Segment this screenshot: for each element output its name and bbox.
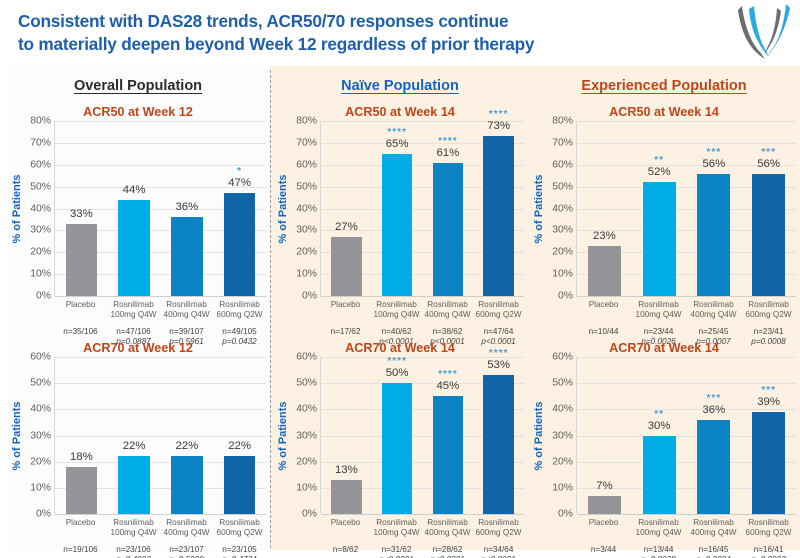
chart-overall-acr50: ACR50 at Week 12% of Patients0%10%20%30%… [10, 104, 266, 347]
bar-experienced-acr50-0[interactable]: 23% [588, 246, 621, 296]
y-tick-label: 20% [296, 247, 317, 258]
y-axis-ticks-experienced-acr50: 0%10%20%30%40%50%60%70%80% [546, 121, 576, 296]
x-tick-label: Rosnilimab400mg Q4W [422, 514, 473, 538]
company-v-logo-icon [732, 2, 794, 64]
slide-root: Consistent with DAS28 trends, ACR50/70 r… [0, 0, 800, 558]
x-tick-label: Placebo [54, 296, 107, 320]
bar-slot: 56%*** [687, 121, 742, 296]
bar-value-label: 61% [433, 147, 463, 159]
y-tick-label: 30% [552, 430, 573, 441]
bar-experienced-acr70-1[interactable]: 30%** [643, 436, 676, 515]
bar-experienced-acr70-0[interactable]: 7% [588, 496, 621, 514]
y-tick-label: 20% [30, 247, 51, 258]
y-tick-label: 60% [30, 352, 51, 363]
x-axis-labels-overall-acr50: PlaceboRosnilimab100mg Q4WRosnilimab400m… [54, 296, 266, 320]
x-tick-label: Placebo [320, 514, 371, 538]
y-tick-label: 50% [552, 181, 573, 192]
y-tick-label: 10% [296, 482, 317, 493]
y-tick-label: 20% [30, 456, 51, 467]
x-tick-label: Rosnilimab100mg Q4W [107, 296, 160, 320]
y-tick-label: 20% [552, 247, 573, 258]
bar-slot: 36%*** [687, 357, 742, 514]
y-tick-label: 10% [552, 482, 573, 493]
y-tick-label: 10% [30, 269, 51, 280]
bar-naive-acr50-1[interactable]: 65%**** [382, 154, 412, 296]
gridline [321, 514, 524, 515]
gridline [55, 296, 266, 297]
x-tick-label: Rosnilimab600mg Q2W [741, 514, 796, 538]
y-axis-ticks-naive-acr50: 0%10%20%30%40%50%60%70%80% [290, 121, 320, 296]
page-title-line2: to materially deepen beyond Week 12 rega… [18, 33, 718, 56]
bar-slot: 44% [108, 121, 161, 296]
x-tick-label: Rosnilimab400mg Q4W [686, 296, 741, 320]
x-tick-label: Placebo [320, 296, 371, 320]
y-axis-ticks-overall-acr70: 0%10%20%30%40%50%60% [24, 357, 54, 514]
y-axis-label-experienced-acr50: % of Patients [532, 121, 546, 296]
bar-value-label: 33% [66, 208, 98, 220]
y-tick-label: 0% [558, 509, 573, 520]
x-tick-label: Placebo [54, 514, 107, 538]
y-tick-label: 50% [30, 378, 51, 389]
y-tick-label: 70% [30, 137, 51, 148]
bar-value-label: 30% [643, 420, 676, 432]
significance-marker: **** [483, 348, 513, 359]
y-axis-label-overall-acr50: % of Patients [10, 121, 24, 296]
x-axis-labels-naive-acr50: PlaceboRosnilimab100mg Q4WRosnilimab400m… [320, 296, 524, 320]
bar-slot: 33% [55, 121, 108, 296]
plot-area-naive-acr70: % of Patients0%10%20%30%40%50%60%13%50%*… [276, 357, 524, 514]
y-tick-label: 70% [552, 137, 573, 148]
y-tick-label: 60% [552, 352, 573, 363]
bar-group-naive-acr70: 13%50%****45%****53%**** [321, 357, 524, 514]
x-tick-label: Rosnilimab100mg Q4W [371, 296, 422, 320]
bar-overall-acr70-3[interactable]: 22% [224, 456, 256, 514]
bar-naive-acr70-0[interactable]: 13% [331, 480, 361, 514]
y-tick-label: 40% [552, 404, 573, 415]
plot-area-overall-acr70: % of Patients0%10%20%30%40%50%60%18%22%2… [10, 357, 266, 514]
n-stat-cell: n=13/44p=0.0038 [631, 538, 686, 558]
bar-slot: 53%**** [473, 357, 524, 514]
significance-marker: * [224, 166, 256, 177]
bar-value-label: 45% [433, 380, 463, 392]
y-tick-label: 60% [296, 352, 317, 363]
bar-group-experienced-acr50: 23%52%**56%***56%*** [577, 121, 796, 296]
y-axis-ticks-experienced-acr70: 0%10%20%30%40%50%60% [546, 357, 576, 514]
significance-marker: **** [483, 109, 513, 120]
bar-value-label: 7% [588, 480, 621, 492]
y-tick-label: 0% [36, 291, 51, 302]
section-heading-overall: Overall Population [10, 78, 266, 94]
y-axis-label-naive-acr70: % of Patients [276, 357, 290, 514]
x-axis-labels-naive-acr70: PlaceboRosnilimab100mg Q4WRosnilimab400m… [320, 514, 524, 538]
y-tick-label: 40% [30, 404, 51, 415]
bar-slot: 13% [321, 357, 372, 514]
bar-slot: 45%**** [423, 357, 474, 514]
y-tick-label: 0% [558, 291, 573, 302]
significance-marker: **** [433, 136, 463, 147]
bar-value-label: 47% [224, 177, 256, 189]
y-tick-label: 0% [36, 509, 51, 520]
bar-value-label: 36% [171, 201, 203, 213]
bar-group-naive-acr50: 27%65%****61%****73%**** [321, 121, 524, 296]
bar-slot: 18% [55, 357, 108, 514]
x-tick-label: Rosnilimab100mg Q4W [631, 514, 686, 538]
bar-value-label: 39% [752, 396, 785, 408]
chart-experienced-acr50: ACR50 at Week 14% of Patients0%10%20%30%… [532, 104, 796, 347]
x-tick-label: Rosnilimab100mg Q4W [371, 514, 422, 538]
bar-slot: 7% [577, 357, 632, 514]
significance-marker: ** [643, 409, 676, 420]
bar-experienced-acr50-1[interactable]: 52%** [643, 182, 676, 296]
x-axis-labels-experienced-acr50: PlaceboRosnilimab100mg Q4WRosnilimab400m… [576, 296, 796, 320]
section-divider [270, 70, 271, 548]
gridline [55, 514, 266, 515]
y-tick-label: 40% [552, 203, 573, 214]
bar-slot: 23% [577, 121, 632, 296]
bar-value-label: 50% [382, 367, 412, 379]
n-stat-cell: n=23/105p=0.4734 [213, 538, 266, 558]
x-tick-label: Placebo [576, 296, 631, 320]
plot-area-experienced-acr70: % of Patients0%10%20%30%40%50%60%7%30%**… [532, 357, 796, 514]
y-tick-label: 60% [30, 159, 51, 170]
bar-naive-acr70-3[interactable]: 53%**** [483, 375, 513, 514]
bar-value-label: 23% [588, 230, 621, 242]
bar-experienced-acr70-2[interactable]: 36%*** [697, 420, 730, 514]
n-stat-cell: n=8/62 [320, 538, 371, 558]
bar-overall-acr50-1[interactable]: 44% [118, 200, 150, 296]
significance-marker: *** [752, 147, 785, 158]
significance-marker: ** [643, 155, 676, 166]
bar-group-overall-acr50: 33%44%36%47%* [55, 121, 266, 296]
y-axis-label-overall-acr70: % of Patients [10, 357, 24, 514]
n-stat-cell: n=3/44 [576, 538, 631, 558]
y-tick-label: 30% [296, 430, 317, 441]
bar-slot: 52%** [632, 121, 687, 296]
bar-value-label: 53% [483, 359, 513, 371]
significance-marker: *** [697, 147, 730, 158]
plot-canvas-experienced-acr70: 7%30%**36%***39%*** [576, 357, 796, 514]
bar-slot: 73%**** [473, 121, 524, 296]
bar-value-label: 52% [643, 166, 676, 178]
y-tick-label: 70% [296, 137, 317, 148]
x-tick-label: Rosnilimab100mg Q4W [631, 296, 686, 320]
bar-slot: 22% [108, 357, 161, 514]
n-stat-cell: n=23/106p=0.4903 [107, 538, 160, 558]
y-tick-label: 20% [552, 456, 573, 467]
bar-slot: 36% [161, 121, 214, 296]
bar-experienced-acr70-3[interactable]: 39%*** [752, 412, 785, 514]
bar-overall-acr50-2[interactable]: 36% [171, 217, 203, 296]
page-title-line1: Consistent with DAS28 trends, ACR50/70 r… [18, 10, 718, 33]
chart-overall-acr70: ACR70 at Week 12% of Patients0%10%20%30%… [10, 340, 266, 558]
bar-naive-acr70-2[interactable]: 45%**** [433, 396, 463, 514]
bar-slot: 27% [321, 121, 372, 296]
bar-overall-acr50-0[interactable]: 33% [66, 224, 98, 296]
gridline [321, 296, 524, 297]
x-tick-label: Rosnilimab400mg Q4W [686, 514, 741, 538]
y-tick-label: 10% [552, 269, 573, 280]
y-tick-label: 0% [302, 509, 317, 520]
bar-experienced-acr50-3[interactable]: 56%*** [752, 174, 785, 297]
bar-slot: 39%*** [741, 357, 796, 514]
y-tick-label: 50% [30, 181, 51, 192]
section-heading-experienced: Experienced Population [532, 78, 796, 94]
bar-value-label: 22% [171, 440, 203, 452]
bar-slot: 22% [161, 357, 214, 514]
x-tick-label: Placebo [576, 514, 631, 538]
x-tick-label: Rosnilimab600mg Q2W [213, 296, 266, 320]
x-tick-label: Rosnilimab600mg Q2W [473, 514, 524, 538]
y-tick-label: 50% [296, 181, 317, 192]
y-tick-label: 20% [296, 456, 317, 467]
n-stat-cell: n=19/106 [54, 538, 107, 558]
chart-naive-acr50: ACR50 at Week 14% of Patients0%10%20%30%… [276, 104, 524, 347]
x-tick-label: Rosnilimab600mg Q2W [213, 514, 266, 538]
y-tick-label: 80% [30, 116, 51, 127]
bar-naive-acr50-3[interactable]: 73%**** [483, 136, 513, 296]
page-title: Consistent with DAS28 trends, ACR50/70 r… [18, 10, 718, 56]
y-tick-label: 40% [30, 203, 51, 214]
gridline [577, 514, 796, 515]
plot-area-overall-acr50: % of Patients0%10%20%30%40%50%60%70%80%3… [10, 121, 266, 296]
significance-marker: *** [697, 393, 730, 404]
y-axis-label-experienced-acr70: % of Patients [532, 357, 546, 514]
y-tick-label: 50% [552, 378, 573, 389]
n-stats-experienced-acr70: n=3/44n=13/44p=0.0038n=16/45p=0.0004n=16… [576, 538, 796, 558]
x-tick-label: Rosnilimab100mg Q4W [107, 514, 160, 538]
y-tick-label: 40% [296, 203, 317, 214]
n-stat-cell: n=31/62p<0.0001 [371, 538, 422, 558]
plot-canvas-naive-acr50: 27%65%****61%****73%**** [320, 121, 524, 296]
bar-overall-acr70-2[interactable]: 22% [171, 456, 203, 514]
bar-slot: 61%**** [423, 121, 474, 296]
bar-value-label: 27% [331, 221, 361, 233]
significance-marker: **** [433, 369, 463, 380]
plot-area-naive-acr50: % of Patients0%10%20%30%40%50%60%70%80%2… [276, 121, 524, 296]
bar-value-label: 65% [382, 138, 412, 150]
plot-canvas-overall-acr70: 18%22%22%22% [54, 357, 266, 514]
bar-value-label: 13% [331, 464, 361, 476]
bar-group-overall-acr70: 18%22%22%22% [55, 357, 266, 514]
significance-marker: **** [382, 127, 412, 138]
plot-canvas-overall-acr50: 33%44%36%47%* [54, 121, 266, 296]
slide-header: Consistent with DAS28 trends, ACR50/70 r… [0, 0, 800, 66]
bar-naive-acr50-2[interactable]: 61%**** [433, 163, 463, 296]
y-tick-label: 10% [30, 482, 51, 493]
n-stat-cell: n=23/107p=0.5090 [160, 538, 213, 558]
bar-overall-acr70-1[interactable]: 22% [118, 456, 150, 514]
y-tick-label: 80% [296, 116, 317, 127]
y-axis-ticks-naive-acr70: 0%10%20%30%40%50%60% [290, 357, 320, 514]
y-tick-label: 0% [302, 291, 317, 302]
x-tick-label: Rosnilimab400mg Q4W [160, 296, 213, 320]
y-tick-label: 10% [296, 269, 317, 280]
n-stats-overall-acr70: n=19/106n=23/106p=0.4903n=23/107p=0.5090… [54, 538, 266, 558]
x-tick-label: Rosnilimab400mg Q4W [160, 514, 213, 538]
y-tick-label: 40% [296, 404, 317, 415]
n-stat-cell: n=34/64p<0.0001 [473, 538, 524, 558]
plot-canvas-experienced-acr50: 23%52%**56%***56%*** [576, 121, 796, 296]
x-tick-label: Rosnilimab600mg Q2W [473, 296, 524, 320]
n-stats-naive-acr70: n=8/62n=31/62p<0.0001n=28/62p<0.0001n=34… [320, 538, 524, 558]
bar-value-label: 18% [66, 451, 98, 463]
bar-experienced-acr50-2[interactable]: 56%*** [697, 174, 730, 297]
x-axis-labels-experienced-acr70: PlaceboRosnilimab100mg Q4WRosnilimab400m… [576, 514, 796, 538]
x-tick-label: Rosnilimab600mg Q2W [741, 296, 796, 320]
section-heading-naive: Naïve Population [276, 78, 524, 94]
y-tick-label: 30% [30, 430, 51, 441]
bar-slot: 65%**** [372, 121, 423, 296]
bar-overall-acr50-3[interactable]: 47%* [224, 193, 256, 296]
bar-value-label: 22% [118, 440, 150, 452]
plot-area-experienced-acr50: % of Patients0%10%20%30%40%50%60%70%80%2… [532, 121, 796, 296]
bar-naive-acr50-0[interactable]: 27% [331, 237, 361, 296]
bar-slot: 30%** [632, 357, 687, 514]
bar-value-label: 44% [118, 184, 150, 196]
y-axis-ticks-overall-acr50: 0%10%20%30%40%50%60%70%80% [24, 121, 54, 296]
y-tick-label: 60% [552, 159, 573, 170]
bar-slot: 22% [213, 357, 266, 514]
bar-slot: 50%**** [372, 357, 423, 514]
bar-overall-acr70-0[interactable]: 18% [66, 467, 98, 514]
gridline [577, 296, 796, 297]
n-stat-cell: n=16/41p=0.0002 [741, 538, 796, 558]
bar-group-experienced-acr70: 7%30%**36%***39%*** [577, 357, 796, 514]
bar-value-label: 22% [224, 440, 256, 452]
y-tick-label: 60% [296, 159, 317, 170]
y-tick-label: 30% [552, 225, 573, 236]
n-stat-cell: n=16/45p=0.0004 [686, 538, 741, 558]
significance-marker: **** [382, 356, 412, 367]
bar-slot: 47%* [213, 121, 266, 296]
y-axis-label-naive-acr50: % of Patients [276, 121, 290, 296]
x-axis-labels-overall-acr70: PlaceboRosnilimab100mg Q4WRosnilimab400m… [54, 514, 266, 538]
bar-value-label: 73% [483, 120, 513, 132]
y-tick-label: 80% [552, 116, 573, 127]
y-tick-label: 50% [296, 378, 317, 389]
y-tick-label: 30% [296, 225, 317, 236]
significance-marker: *** [752, 385, 785, 396]
y-tick-label: 30% [30, 225, 51, 236]
bar-slot: 56%*** [741, 121, 796, 296]
bar-naive-acr70-1[interactable]: 50%**** [382, 383, 412, 514]
plot-canvas-naive-acr70: 13%50%****45%****53%**** [320, 357, 524, 514]
x-tick-label: Rosnilimab400mg Q4W [422, 296, 473, 320]
bar-value-label: 36% [697, 404, 730, 416]
chart-naive-acr70: ACR70 at Week 14% of Patients0%10%20%30%… [276, 340, 524, 558]
bar-value-label: 56% [697, 158, 730, 170]
bar-value-label: 56% [752, 158, 785, 170]
chart-experienced-acr70: ACR70 at Week 14% of Patients0%10%20%30%… [532, 340, 796, 558]
n-stat-cell: n=28/62p<0.0001 [422, 538, 473, 558]
